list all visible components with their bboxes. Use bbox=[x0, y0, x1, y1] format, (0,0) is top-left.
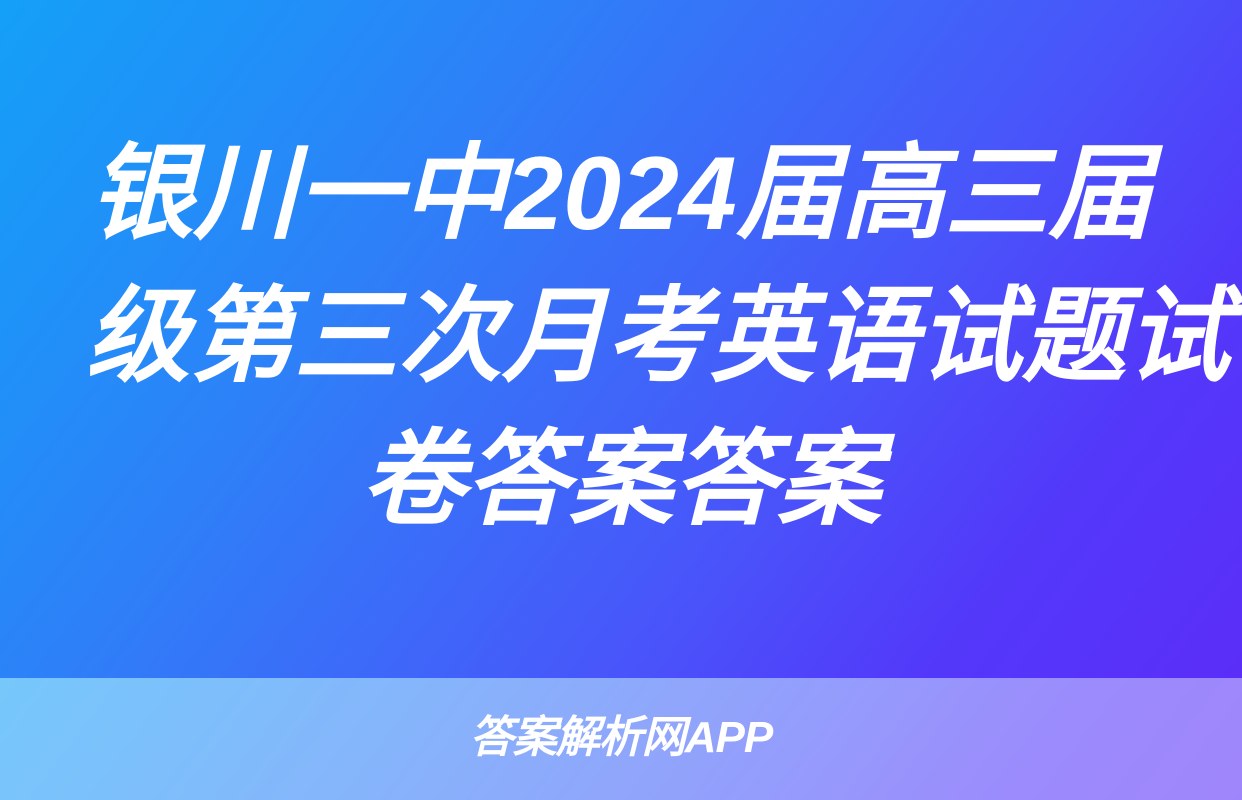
title-line-1: 银川一中2024届高三届 bbox=[86, 123, 1156, 266]
footer-watermark-band: 答案解析网APP bbox=[0, 678, 1242, 800]
hero-gradient-panel: 银川一中2024届高三届 级第三次月考英语试题试 卷答案答案 bbox=[0, 0, 1242, 678]
title-line-2: 级第三次月考英语试题试 bbox=[86, 266, 1156, 409]
promo-card: 银川一中2024届高三届 级第三次月考英语试题试 卷答案答案 答案解析网APP bbox=[0, 0, 1242, 800]
title-line-3: 卷答案答案 bbox=[86, 409, 1156, 552]
page-title: 银川一中2024届高三届 级第三次月考英语试题试 卷答案答案 bbox=[86, 123, 1156, 556]
app-watermark-label: 答案解析网APP bbox=[470, 716, 772, 762]
